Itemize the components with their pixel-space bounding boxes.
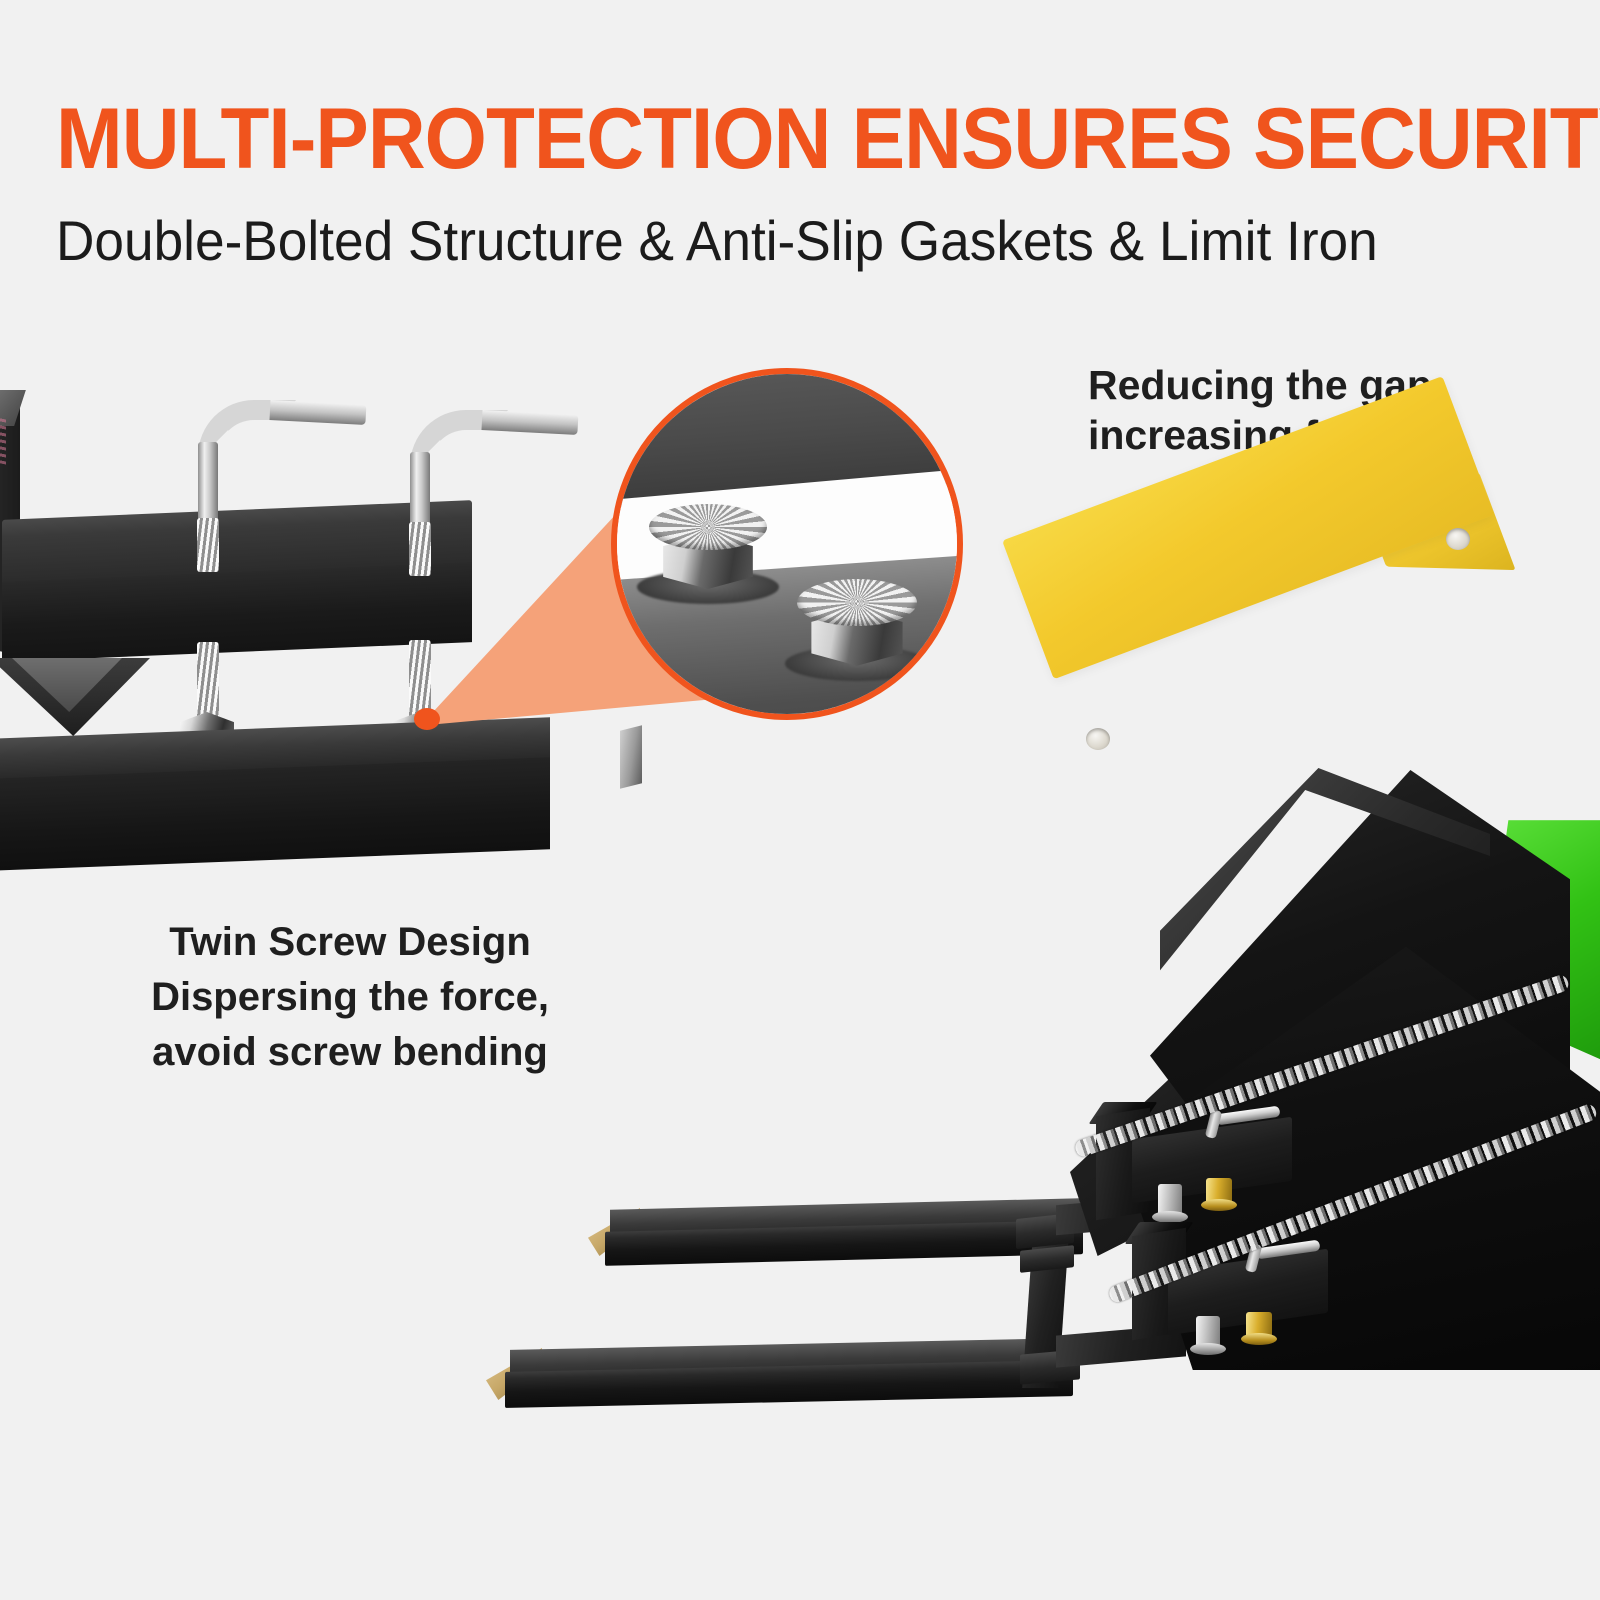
callout-origin-dot [414,708,440,730]
mount-bolt-gold-1 [1206,1178,1232,1206]
mount-bolt-silver-2 [1196,1316,1220,1350]
hook-bar-1 [1216,1106,1281,1126]
mount-bolt-gold-2 [1246,1312,1272,1340]
mount-bolt-silver-1 [1158,1184,1182,1218]
bucket-figure [1000,760,1600,1400]
product-feature-graphic: MULTI-PROTECTION ENSURES SECURITY Double… [0,0,1600,1600]
